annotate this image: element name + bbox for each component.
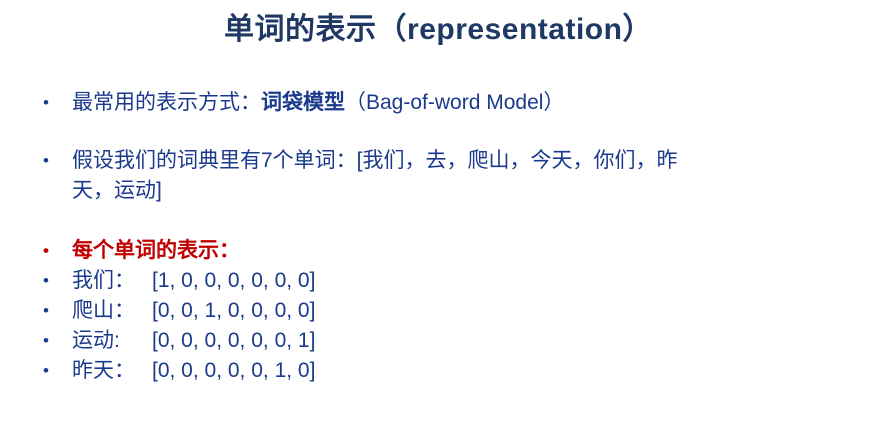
bullet-dot-icon: • <box>43 356 57 386</box>
bullet-1-bold-term: 词袋模型 <box>261 91 345 114</box>
bullet-item-representation-method: • 最常用的表示方式：词袋模型（Bag-of-word Model） <box>0 88 877 118</box>
bullet-item-dictionary: • 假设我们的词典里有7个单词：[我们，去，爬山，今天，你们，昨 天，运动] <box>0 146 877 206</box>
bullet-dot-icon: • <box>43 266 57 296</box>
bullet-1-lead-text: 最常用的表示方式： <box>72 91 261 114</box>
list-item: • 我们：[1, 0, 0, 0, 0, 0, 0] <box>0 266 877 296</box>
vector-label: 昨天： <box>72 356 152 386</box>
vector-value: [0, 0, 1, 0, 0, 0, 0] <box>152 296 315 326</box>
list-item: • 运动:[0, 0, 0, 0, 0, 0, 1] <box>0 326 877 356</box>
spacer-1 <box>0 118 877 146</box>
slide-body: • 最常用的表示方式：词袋模型（Bag-of-word Model） • 假设我… <box>0 88 877 386</box>
page-title: 单词的表示（representation） <box>0 8 877 52</box>
bullet-1-english-term: （Bag-of-word Model） <box>345 91 564 114</box>
vector-label: 我们： <box>72 266 152 296</box>
slide: 单词的表示（representation） • 最常用的表示方式：词袋模型（Ba… <box>0 0 877 442</box>
vector-label: 爬山： <box>72 296 152 326</box>
vector-value: [0, 0, 0, 0, 0, 1, 0] <box>152 356 315 386</box>
bullet-dot-icon: • <box>43 146 57 176</box>
vector-label: 运动: <box>72 326 152 356</box>
bullet-3-heading: 每个单词的表示： <box>72 236 877 266</box>
vector-value: [0, 0, 0, 0, 0, 0, 1] <box>152 326 315 356</box>
bullet-dot-icon: • <box>43 326 57 356</box>
bullet-1-text: 最常用的表示方式：词袋模型（Bag-of-word Model） <box>72 88 877 118</box>
list-item: • 昨天：[0, 0, 0, 0, 0, 1, 0] <box>0 356 877 386</box>
spacer-2 <box>0 206 877 236</box>
bullet-dot-icon: • <box>43 88 57 118</box>
bullet-2-line-2: 天，运动] <box>72 176 877 206</box>
vector-value: [1, 0, 0, 0, 0, 0, 0] <box>152 266 315 296</box>
bullet-item-each-word-representation: • 每个单词的表示： <box>0 236 877 266</box>
list-item: • 爬山：[0, 0, 1, 0, 0, 0, 0] <box>0 296 877 326</box>
bullet-2-line-1: 假设我们的词典里有7个单词：[我们，去，爬山，今天，你们，昨 <box>72 146 877 176</box>
bullet-dot-icon: • <box>43 236 57 266</box>
bullet-dot-icon: • <box>43 296 57 326</box>
